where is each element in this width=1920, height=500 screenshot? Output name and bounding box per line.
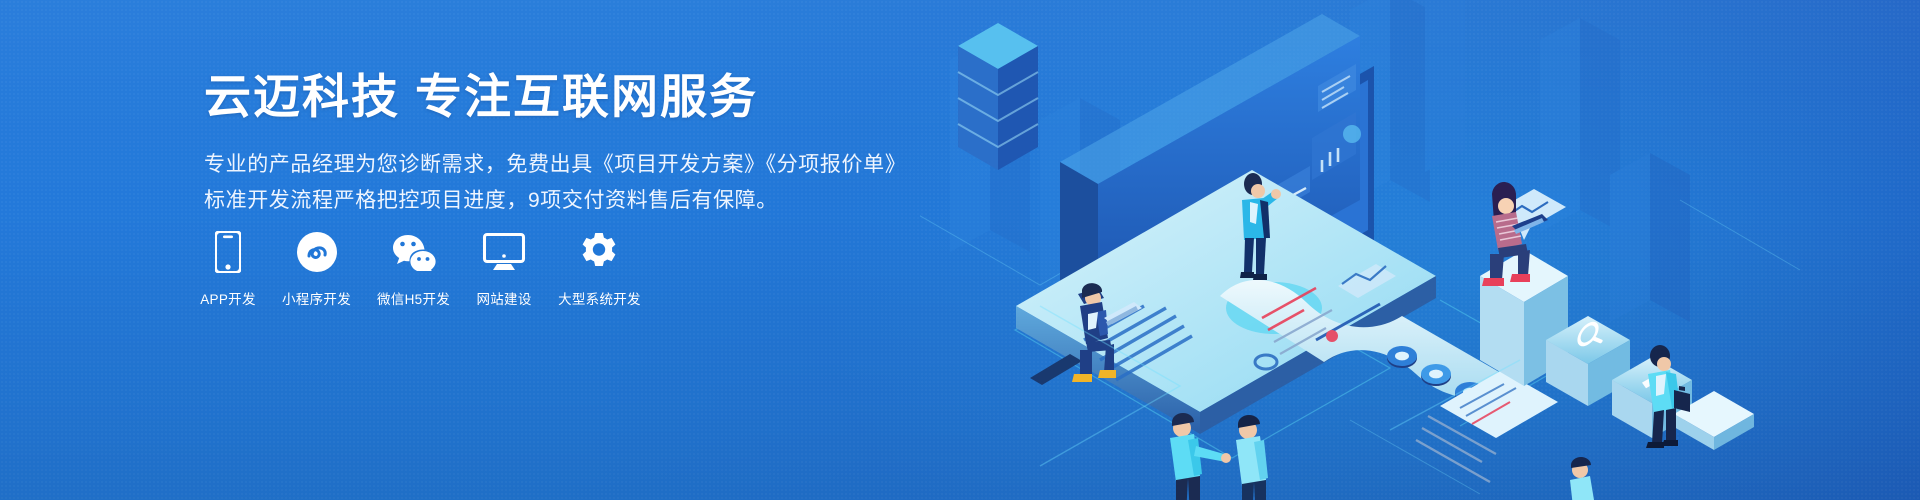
service-label: 小程序开发 [282, 288, 351, 308]
service-item-app[interactable]: APP开发 [200, 230, 256, 308]
isometric-illustration [920, 0, 1920, 500]
page-title: 云迈科技 专注互联网服务 [204, 68, 906, 127]
hero-banner: 云迈科技 专注互联网服务 专业的产品经理为您诊断需求，免费出具《项目开发方案》《… [0, 0, 1920, 500]
service-item-large-system[interactable]: 大型系统开发 [558, 230, 641, 308]
service-item-mini-program[interactable]: 小程序开发 [282, 230, 351, 308]
service-list: APP开发 小程序开发 微信 [200, 230, 641, 308]
wechat-icon [392, 230, 436, 274]
gear-icon [579, 230, 619, 274]
subtitle-line-1: 专业的产品经理为您诊断需求，免费出具《项目开发方案》《分项报价单》 [204, 147, 906, 183]
service-label: 微信H5开发 [377, 288, 450, 308]
subtitle-line-2: 标准开发流程严格把控项目进度，9项交付资料售后有保障。 [204, 183, 906, 219]
service-label: 大型系统开发 [558, 288, 641, 308]
service-label: 网站建设 [476, 288, 531, 308]
service-label: APP开发 [200, 288, 256, 308]
mini-program-icon [297, 230, 337, 274]
hero-subtitle: 专业的产品经理为您诊断需求，免费出具《项目开发方案》《分项报价单》 标准开发流程… [204, 147, 906, 219]
mobile-phone-icon [215, 230, 241, 274]
service-item-wechat-h5[interactable]: 微信H5开发 [377, 230, 450, 308]
service-item-website[interactable]: 网站建设 [476, 230, 532, 308]
monitor-icon [483, 230, 525, 274]
hero-copy: 云迈科技 专注互联网服务 专业的产品经理为您诊断需求，免费出具《项目开发方案》《… [204, 68, 906, 219]
